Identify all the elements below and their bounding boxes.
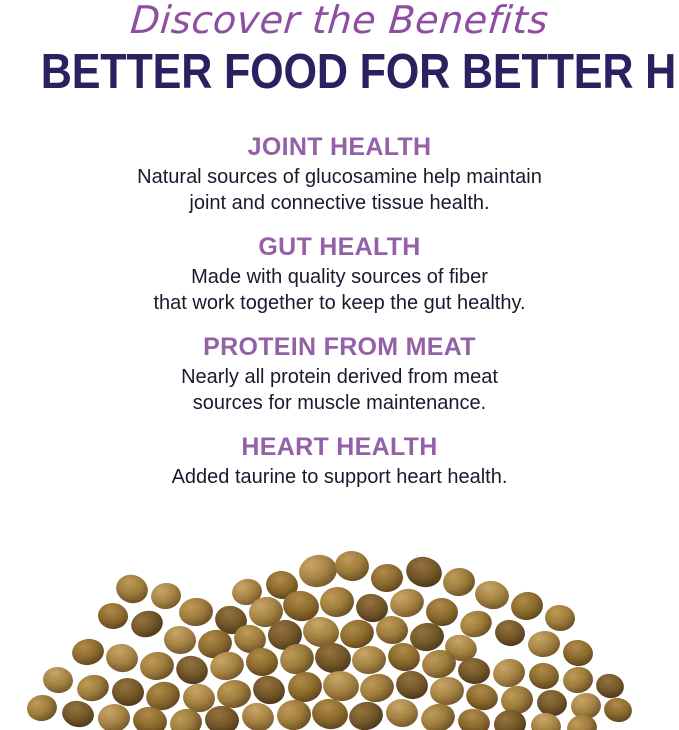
promo-panel: Discover the Benefits BETTER FOOD FOR BE… bbox=[0, 0, 679, 730]
kibble-pile-image bbox=[0, 540, 679, 730]
main-headline: BETTER FOOD FOR BETTER HEALTH bbox=[41, 47, 639, 97]
benefit-item: GUT HEALTH Made with quality sources of … bbox=[0, 232, 679, 316]
benefit-description: Made with quality sources of fiber that … bbox=[0, 264, 679, 316]
benefit-item: JOINT HEALTH Natural sources of glucosam… bbox=[0, 132, 679, 216]
benefit-title: GUT HEALTH bbox=[0, 232, 679, 262]
benefit-title: JOINT HEALTH bbox=[0, 132, 679, 162]
benefit-item: HEART HEALTH Added taurine to support he… bbox=[0, 432, 679, 490]
benefit-title: PROTEIN FROM MEAT bbox=[0, 332, 679, 362]
benefit-title: HEART HEALTH bbox=[0, 432, 679, 462]
benefit-description: Natural sources of glucosamine help main… bbox=[0, 164, 679, 216]
benefit-description: Added taurine to support heart health. bbox=[0, 464, 679, 490]
benefit-description: Nearly all protein derived from meat sou… bbox=[0, 364, 679, 416]
kibble-group bbox=[25, 549, 634, 730]
benefits-list: JOINT HEALTH Natural sources of glucosam… bbox=[0, 132, 679, 506]
kibble-pile-illustration bbox=[0, 540, 679, 730]
script-headline: Discover the Benefits bbox=[0, 0, 679, 42]
benefit-item: PROTEIN FROM MEAT Nearly all protein der… bbox=[0, 332, 679, 416]
